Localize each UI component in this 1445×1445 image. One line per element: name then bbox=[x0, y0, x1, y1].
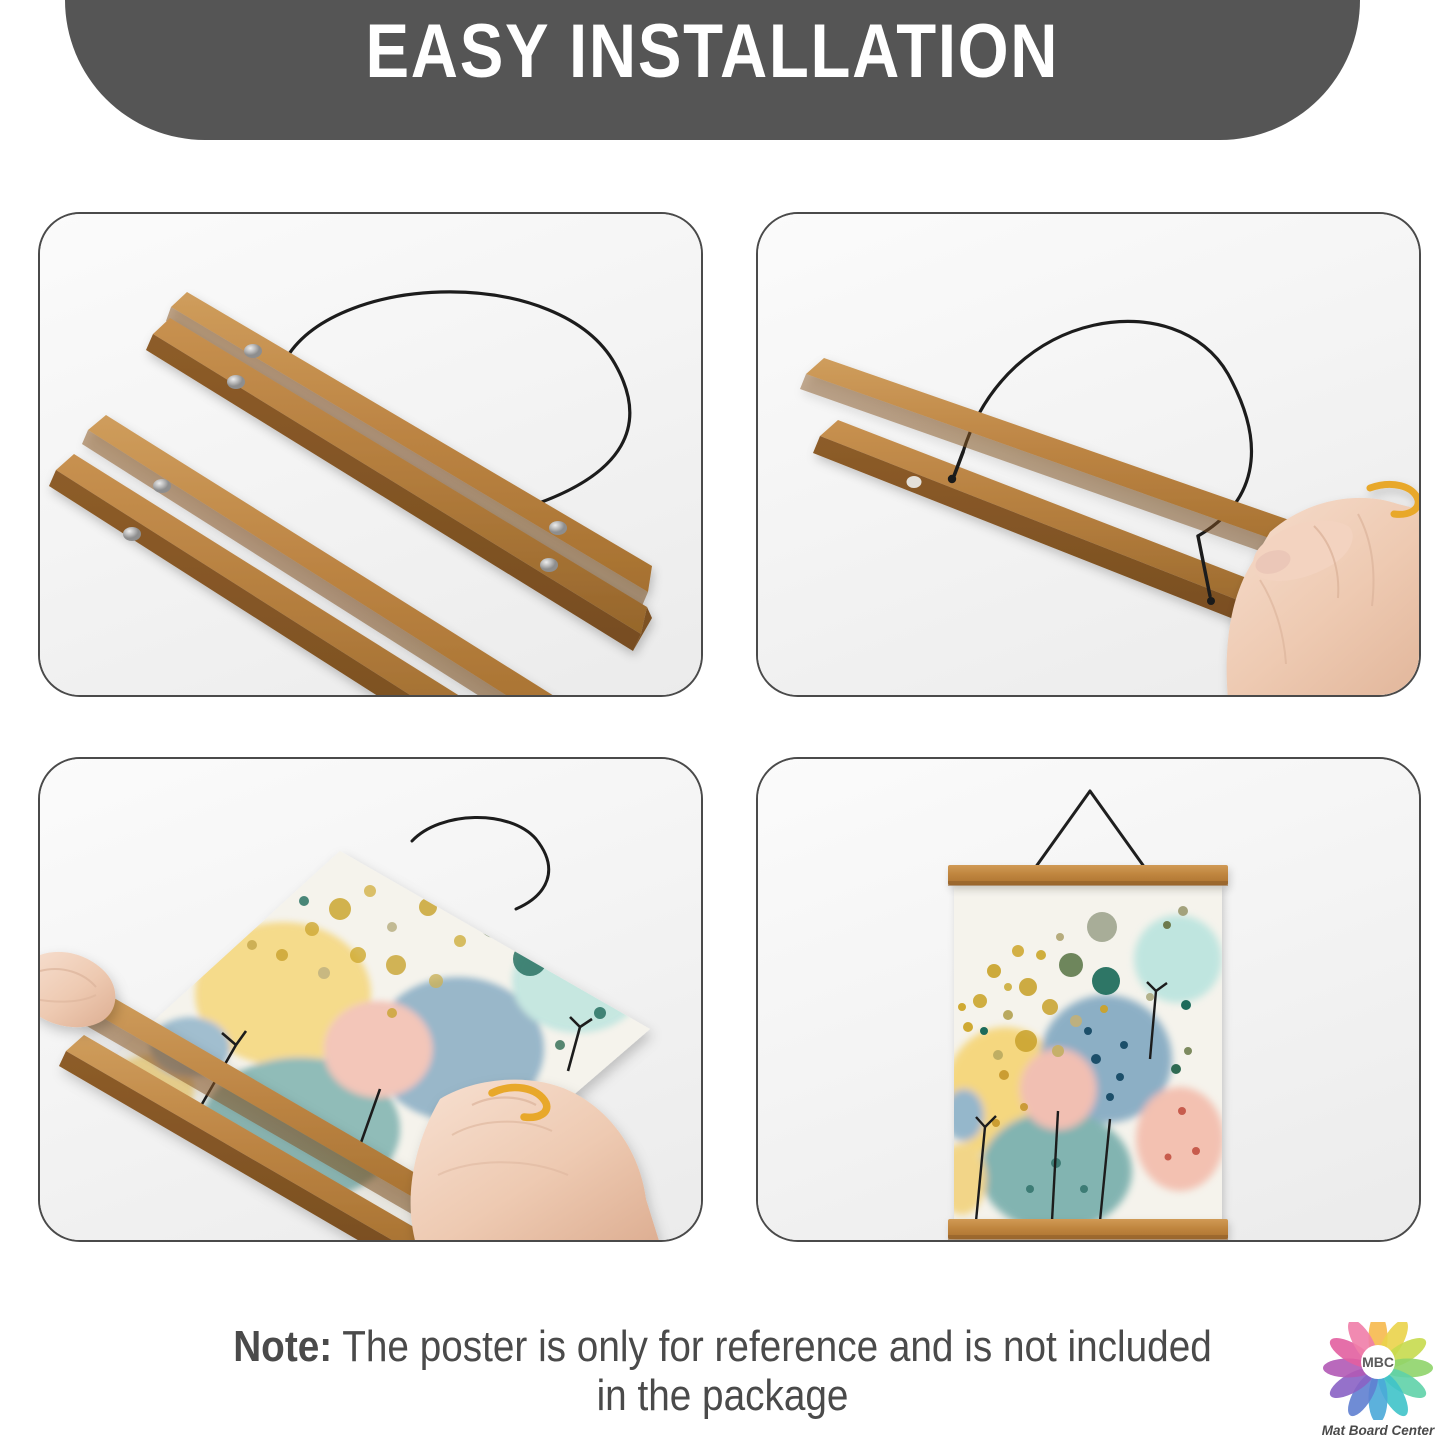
poster-artwork bbox=[938, 883, 1224, 1231]
hand-left bbox=[40, 952, 115, 1027]
magnet-disc bbox=[123, 527, 141, 541]
logo-monogram: MBC bbox=[1362, 1354, 1394, 1370]
brand-name: Mat Board Center bbox=[1316, 1423, 1440, 1438]
rail-bottom bbox=[948, 1219, 1228, 1240]
step-4-panel bbox=[756, 757, 1421, 1242]
brand-logo: MBC Mat Board Center bbox=[1316, 1322, 1440, 1440]
hanging-cord bbox=[412, 817, 549, 909]
puff-mint bbox=[1134, 915, 1222, 1003]
magnet-disc bbox=[907, 476, 922, 488]
hanging-cord bbox=[1030, 791, 1150, 875]
puff-blue-edge bbox=[944, 1089, 984, 1141]
note-label: Note: bbox=[233, 1322, 332, 1371]
step-4-illustration bbox=[758, 759, 1419, 1240]
step-1-panel bbox=[38, 212, 703, 697]
disclaimer-note: Note: The poster is only for reference a… bbox=[87, 1322, 1359, 1421]
header-banner: EASY INSTALLATION bbox=[65, 0, 1360, 140]
magnet-disc bbox=[549, 521, 567, 535]
step-2-illustration bbox=[758, 214, 1419, 695]
step-3-illustration bbox=[40, 759, 701, 1240]
flower-logo-icon: MBC bbox=[1316, 1322, 1440, 1420]
magnet-disc bbox=[153, 479, 171, 493]
step-1-illustration bbox=[40, 214, 701, 695]
step-3-panel bbox=[38, 757, 703, 1242]
puff-coral-2 bbox=[1136, 1087, 1224, 1191]
page-title: EASY INSTALLATION bbox=[366, 8, 1060, 95]
magnet-disc bbox=[227, 375, 245, 389]
magnet-disc bbox=[244, 344, 262, 358]
step-2-panel bbox=[756, 212, 1421, 697]
hand-right bbox=[411, 1080, 660, 1240]
cord-knot bbox=[948, 475, 956, 483]
magnet-disc bbox=[540, 558, 558, 572]
rail-top bbox=[948, 865, 1228, 886]
note-text: The poster is only for reference and is … bbox=[342, 1322, 1212, 1420]
cord-knot bbox=[1207, 597, 1215, 605]
